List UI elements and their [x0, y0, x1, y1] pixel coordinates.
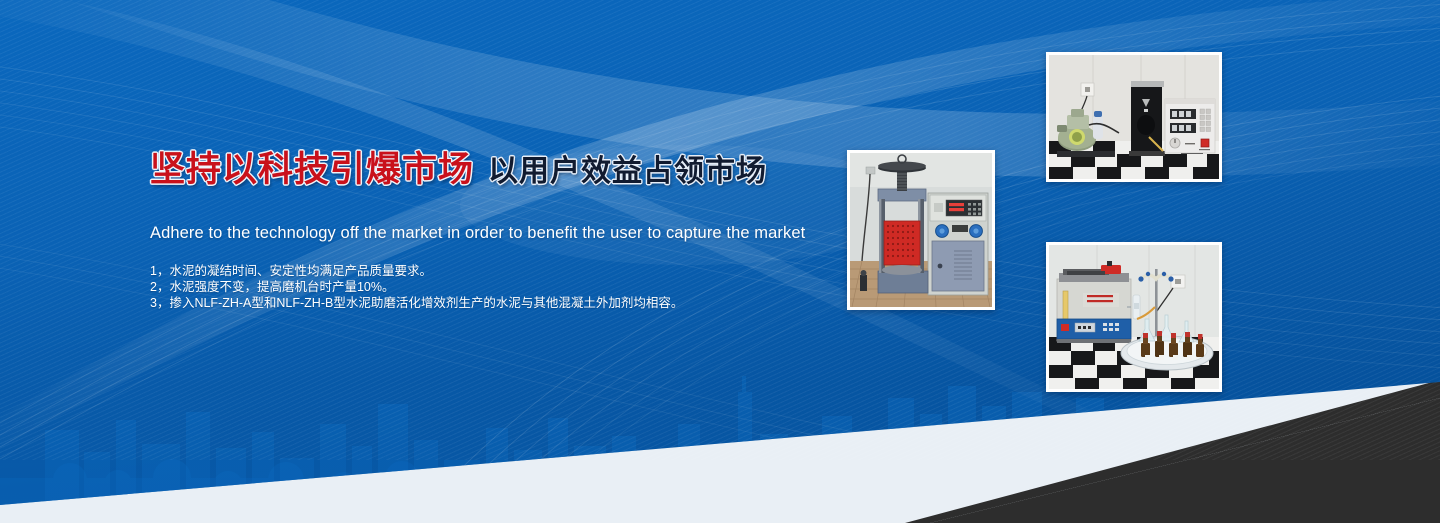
photo-cement-sample-preparation-station [1046, 242, 1222, 392]
banner-copy: 坚持以科技引爆市场 以用户效益占领市场 Adhere to the techno… [150, 152, 830, 311]
photo-frame [850, 153, 992, 307]
photo-compression-testing-machine [847, 150, 995, 310]
feature-bullet-list: 1，水泥的凝结时间、安定性均满足产品质量要求。 2，水泥强度不变，提高磨机台时产… [150, 263, 830, 311]
promo-banner: 坚持以科技引爆市场 以用户效益占领市场 Adhere to the techno… [0, 0, 1440, 523]
photo-frame [1049, 245, 1219, 389]
headline-primary: 坚持以科技引爆市场 [150, 152, 474, 187]
photo-lab-vacuum-pump-and-furnace [1046, 52, 1222, 182]
list-item: 1，水泥的凝结时间、安定性均满足产品质量要求。 [150, 263, 830, 279]
headline: 坚持以科技引爆市场 以用户效益占领市场 [150, 152, 830, 198]
headline-secondary: 以用户效益占领市场 [488, 157, 767, 187]
list-item: 2，水泥强度不变，提高磨机台时产量10%。 [150, 279, 830, 295]
list-item: 3，掺入NLF-ZH-A型和NLF-ZH-B型水泥助磨活化增效剂生产的水泥与其他… [150, 295, 830, 311]
photo-frame [1049, 55, 1219, 179]
subheadline: Adhere to the technology off the market … [150, 224, 830, 243]
